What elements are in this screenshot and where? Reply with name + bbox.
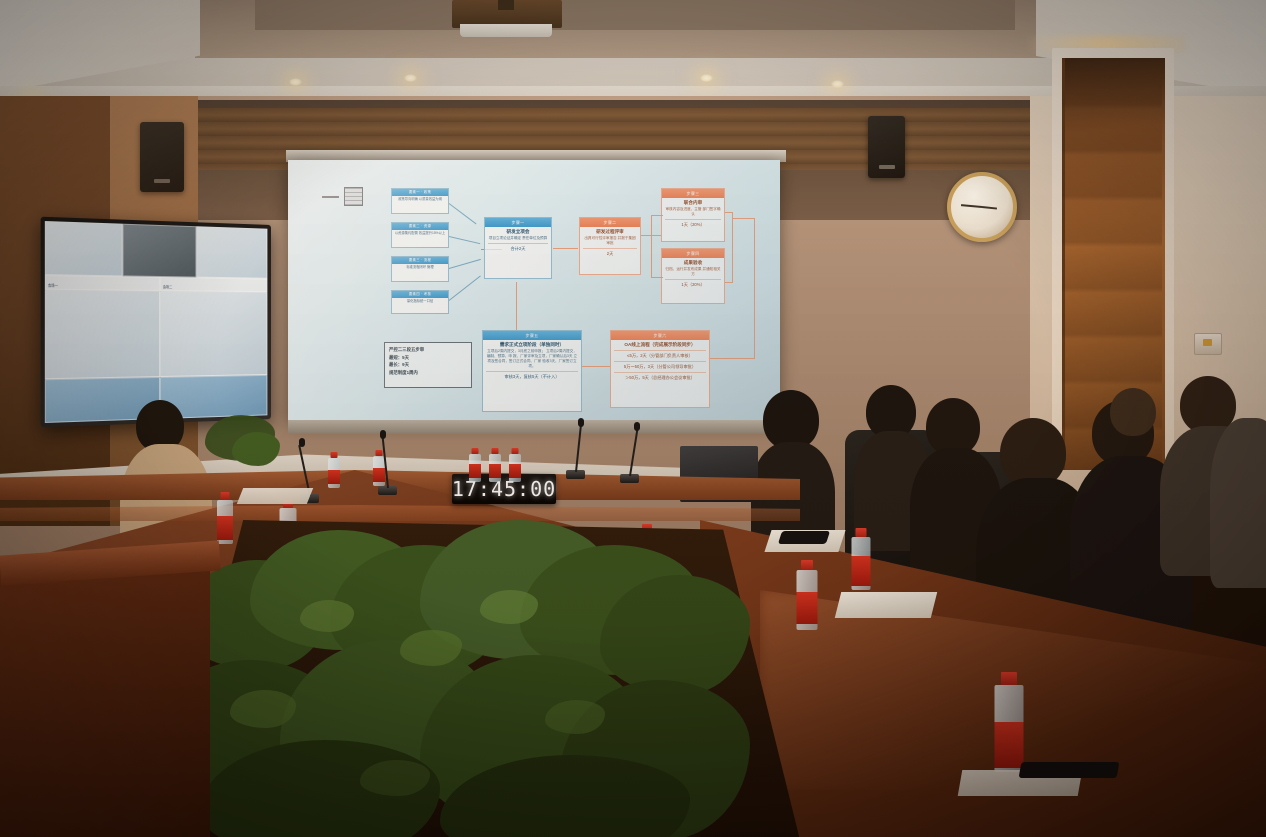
water-bottle (468, 448, 482, 482)
connector-line (651, 215, 652, 277)
slide-left-chip-2: 要素二 · 资源 以资源集约配置 效益提升15%以上 (391, 222, 449, 248)
node-header: 步骤三 (662, 189, 724, 198)
connector-line (732, 212, 733, 282)
connector-line (725, 212, 733, 213)
screen-bottom-bar (288, 420, 780, 434)
connector-line (725, 282, 733, 283)
document (237, 488, 313, 504)
node-body: 联合内审 审核内容及进度，主管 部门签字确认 1天（20%） (662, 198, 724, 230)
connector-line (732, 218, 755, 219)
video-tile (45, 221, 123, 276)
connector-line (651, 277, 663, 278)
slide-node-step5: 步骤五 需求正式立项阶段（单独同时） 立项后2周内提交，3月底之前申报； 立项后… (482, 330, 582, 412)
meeting-room-photo: 要素一 · 政策 政策导向明确 以质量效益为纲 要素二 · 资源 以资源集约配置… (0, 0, 1266, 837)
connector-line (754, 218, 755, 358)
chip-body: 标准流程闭环 管理 (392, 264, 448, 271)
slide-node-step1: 步骤一 研发立项会 项目立项论证并确定 责任单位及预算 合计2天 (484, 217, 552, 279)
video-wall-display[interactable]: 会场一 会场二 (41, 217, 271, 428)
slide-node-step3: 步骤三 联合内审 审核内容及进度，主管 部门签字确认 1天（20%） (661, 188, 725, 242)
slide-note-box: 严控二三段五步审 最短：5天 最长：9天 规范制度1周内 (384, 342, 472, 388)
video-wall-screen: 会场一 会场二 (45, 221, 268, 423)
video-tile (45, 290, 160, 380)
wall-clock (947, 172, 1017, 242)
slide-header-mark (322, 187, 363, 206)
downlight-icon (831, 80, 844, 88)
slide-content: 要素一 · 政策 政策导向明确 以质量效益为纲 要素二 · 资源 以资源集约配置… (288, 160, 780, 422)
node-body: 需求正式立项阶段（单独同时） 立项后2周内提交，3月底之前申报； 立项后2周内提… (483, 340, 581, 382)
chip-body: 量化指标统一口径 (392, 298, 448, 305)
connector-line (449, 236, 480, 244)
node-body: 研发过程评审 出具可行性评审报告 并报于集团审批 2天 (580, 227, 640, 259)
projector-lens (460, 24, 552, 37)
connector-line (449, 203, 477, 224)
node-header: 步骤五 (483, 331, 581, 340)
downlight-icon (700, 74, 713, 82)
document (835, 592, 937, 618)
slide-left-chip-4: 要素四 · 考核 量化指标统一口径 (391, 290, 449, 314)
projector-mount (498, 0, 514, 10)
video-tile (123, 224, 197, 278)
node-header: 步骤二 (580, 218, 640, 227)
water-bottle (488, 448, 502, 482)
wall-speaker-right (868, 116, 905, 178)
node-header: 步骤六 (611, 331, 709, 340)
switch-indicator-icon (1203, 339, 1212, 346)
node-header: 步骤一 (485, 218, 551, 227)
water-bottle (508, 448, 522, 482)
slide-node-step6: 步骤六 OA线上流程（完成展示阶段同步） ≤5万，2天（分管部门负责人审核） 5… (610, 330, 710, 408)
speaker-badge (154, 179, 170, 183)
chip-body: 政策导向明确 以质量效益为纲 (392, 196, 448, 203)
connector-arrow (582, 366, 610, 367)
mobile-phone[interactable] (1019, 762, 1120, 778)
downlight-icon (289, 78, 302, 86)
node-header: 步骤四 (662, 249, 724, 258)
node-body: 研发立项会 项目立项论证并确定 责任单位及预算 合计2天 (485, 227, 551, 254)
chip-body: 以资源集约配置 效益提升15%以上 (392, 230, 448, 237)
video-tile-caption-left: 会场一 (45, 275, 160, 291)
slide-left-chip-3: 要素三 · 流程 标准流程闭环 管理 (391, 256, 449, 282)
downlight-icon (404, 74, 417, 82)
node-body: 成果验收 归档、运行并发布成果 并通知相关方 1天（20%） (662, 258, 724, 290)
mobile-phone[interactable] (778, 531, 830, 544)
node-body: OA线上流程（完成展示阶段同步） ≤5万，2天（分管部门负责人审核） 5万～50… (611, 340, 709, 383)
water-bottle (327, 452, 341, 488)
speaker-badge (879, 165, 895, 169)
chip-header: 要素四 · 考核 (392, 291, 448, 298)
slide-node-step4: 步骤四 成果验收 归档、运行并发布成果 并通知相关方 1天（20%） (661, 248, 725, 304)
water-bottle (215, 492, 234, 544)
connector-arrow (553, 248, 578, 249)
water-bottle (850, 528, 872, 590)
connector-line (449, 259, 481, 269)
video-tile (160, 291, 267, 377)
slide-dash-icon (322, 196, 339, 198)
chip-header: 要素三 · 流程 (392, 257, 448, 264)
connector-line (516, 282, 517, 332)
projection-screen: 要素一 · 政策 政策导向明确 以质量效益为纲 要素二 · 资源 以资源集约配置… (288, 160, 780, 422)
water-bottle (795, 560, 819, 630)
chip-header: 要素二 · 资源 (392, 223, 448, 230)
connector-line (708, 358, 755, 359)
slide-grid-icon (344, 187, 363, 206)
ceiling-recess-inner (255, 0, 1015, 30)
water-bottle (992, 672, 1026, 772)
clock-hour-hand (982, 206, 997, 210)
video-tile-caption-right: 会场二 (160, 277, 267, 292)
clock-minute-hand (961, 204, 982, 208)
video-tile (196, 226, 267, 278)
slide-node-step2: 步骤二 研发过程评审 出具可行性评审报告 并报于集团审批 2天 (579, 217, 641, 275)
wall-speaker-left (140, 122, 184, 192)
connector-line (651, 215, 663, 216)
chip-header: 要素一 · 政策 (392, 189, 448, 196)
connector-line (449, 275, 481, 300)
table-front-left (0, 560, 210, 837)
slide-left-chip-1: 要素一 · 政策 政策导向明确 以质量效益为纲 (391, 188, 449, 214)
